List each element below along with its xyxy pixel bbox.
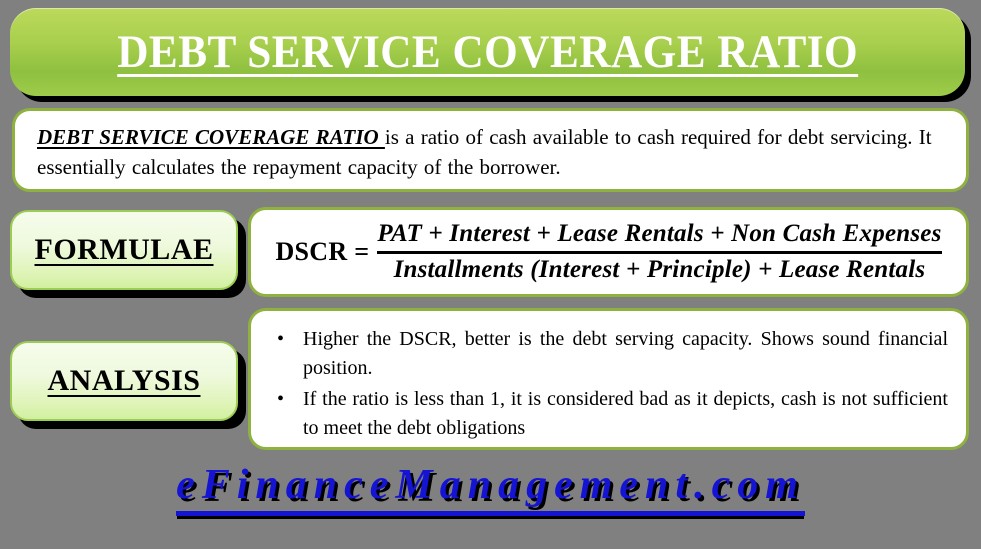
header-banner-body: DEBT SERVICE COVERAGE RATIO xyxy=(10,8,965,96)
analysis-button-label: ANALYSIS xyxy=(48,364,201,398)
formula-fraction-bar xyxy=(377,251,941,254)
header-banner: DEBT SERVICE COVERAGE RATIO xyxy=(10,8,965,96)
analysis-panel: • Higher the DSCR, better is the debt se… xyxy=(248,308,969,450)
formulae-button-body[interactable]: FORMULAE xyxy=(10,210,238,290)
analysis-button-body[interactable]: ANALYSIS xyxy=(10,341,238,421)
formula-left-hand-side: DSCR = xyxy=(275,237,369,267)
footer-branding: eFinanceManagement.com xyxy=(0,461,981,516)
formula-denominator: Installments (Interest + Principle) + Le… xyxy=(394,255,926,286)
list-item-text: Higher the DSCR, better is the debt serv… xyxy=(303,328,948,379)
analysis-label-button[interactable]: ANALYSIS xyxy=(10,341,238,421)
page-title: DEBT SERVICE COVERAGE RATIO xyxy=(117,29,858,76)
list-item: • Higher the DSCR, better is the debt se… xyxy=(269,325,948,383)
definition-text: DEBT SERVICE COVERAGE RATIO is a ratio o… xyxy=(37,123,952,183)
formula-panel: DSCR = PAT + Interest + Lease Rentals + … xyxy=(248,207,969,297)
definition-lead-in: DEBT SERVICE COVERAGE RATIO xyxy=(37,125,385,149)
formulae-label-button[interactable]: FORMULAE xyxy=(10,210,238,290)
analysis-bullet-list: • Higher the DSCR, better is the debt se… xyxy=(269,325,948,443)
formula-expression: DSCR = PAT + Interest + Lease Rentals + … xyxy=(275,219,941,285)
formula-fraction: PAT + Interest + Lease Rentals + Non Cas… xyxy=(377,219,941,285)
definition-panel: DEBT SERVICE COVERAGE RATIO is a ratio o… xyxy=(12,108,969,192)
list-item-text: If the ratio is less than 1, it is consi… xyxy=(303,388,948,439)
bullet-icon: • xyxy=(277,385,284,414)
brand-name[interactable]: eFinanceManagement.com xyxy=(176,461,805,516)
formula-numerator: PAT + Interest + Lease Rentals + Non Cas… xyxy=(377,219,941,250)
list-item: • If the ratio is less than 1, it is con… xyxy=(269,385,948,443)
bullet-icon: • xyxy=(277,325,284,354)
formulae-button-label: FORMULAE xyxy=(35,233,214,267)
